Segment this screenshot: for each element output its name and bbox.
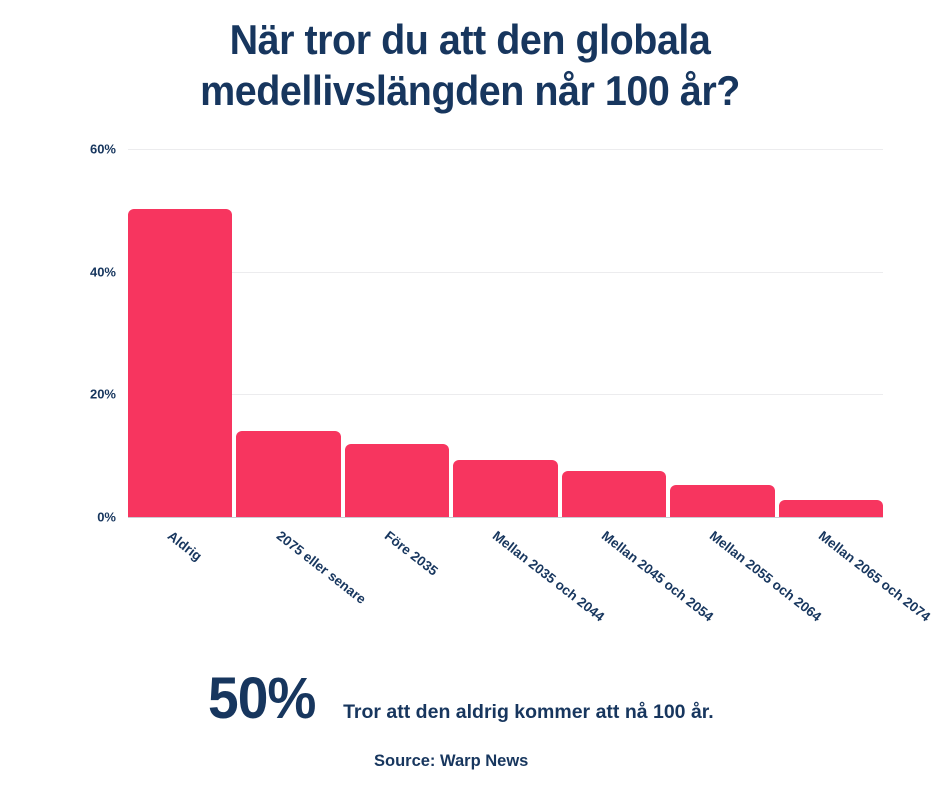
bar-mellan-2045-och-2054[interactable] bbox=[562, 471, 666, 517]
plot-area: 60% 40% 20% 0% bbox=[128, 149, 883, 517]
bar-slot bbox=[236, 149, 340, 517]
kpi-value: 50% bbox=[208, 668, 315, 730]
x-tick-label-2: Före 2035 bbox=[382, 528, 441, 579]
page-title-line-2: medellivslängden når 100 år? bbox=[28, 65, 912, 116]
x-label-slot: Mellan 2035 och 2044 bbox=[453, 526, 557, 676]
x-tick-label-0: Aldrig bbox=[165, 528, 205, 564]
y-tick-label-40: 40% bbox=[90, 264, 116, 279]
y-tick-label-0: 0% bbox=[97, 510, 116, 525]
kpi-caption: Tror att den aldrig kommer att nå 100 år… bbox=[343, 701, 714, 724]
x-axis-labels: Aldrig 2075 eller senare Före 2035 Mella… bbox=[128, 526, 883, 676]
bar-series bbox=[128, 149, 883, 517]
x-label-slot: Före 2035 bbox=[345, 526, 449, 676]
x-tick-label-6: Mellan 2065 och 2074 bbox=[815, 528, 932, 624]
bar-mellan-2065-och-2074[interactable] bbox=[779, 500, 883, 517]
y-tick-label-20: 20% bbox=[90, 387, 116, 402]
x-label-slot: Mellan 2065 och 2074 bbox=[779, 526, 883, 676]
bar-slot bbox=[128, 149, 232, 517]
x-axis-line bbox=[128, 517, 883, 518]
bar-chart: 60% 40% 20% 0% bbox=[0, 140, 940, 540]
x-label-slot: Aldrig bbox=[128, 526, 232, 676]
bar-aldrig[interactable] bbox=[128, 209, 232, 517]
bar-slot bbox=[453, 149, 557, 517]
bar-mellan-2035-och-2044[interactable] bbox=[453, 460, 557, 517]
bar-slot bbox=[345, 149, 449, 517]
x-label-slot: Mellan 2045 och 2054 bbox=[562, 526, 666, 676]
kpi-row: 50% Tror att den aldrig kommer att nå 10… bbox=[208, 668, 714, 730]
bar-fore-2035[interactable] bbox=[345, 444, 449, 517]
bar-slot bbox=[670, 149, 774, 517]
bar-slot bbox=[562, 149, 666, 517]
source-label: Source: Warp News bbox=[374, 752, 528, 771]
page-title-line-1: När tror du att den globala bbox=[28, 14, 912, 65]
x-label-slot: Mellan 2055 och 2064 bbox=[670, 526, 774, 676]
page-title: När tror du att den globala medellivslän… bbox=[0, 14, 940, 116]
bar-2075-eller-senare[interactable] bbox=[236, 431, 340, 517]
bar-slot bbox=[779, 149, 883, 517]
y-tick-label-60: 60% bbox=[90, 142, 116, 157]
bar-mellan-2055-och-2064[interactable] bbox=[670, 485, 774, 517]
x-label-slot: 2075 eller senare bbox=[236, 526, 340, 676]
